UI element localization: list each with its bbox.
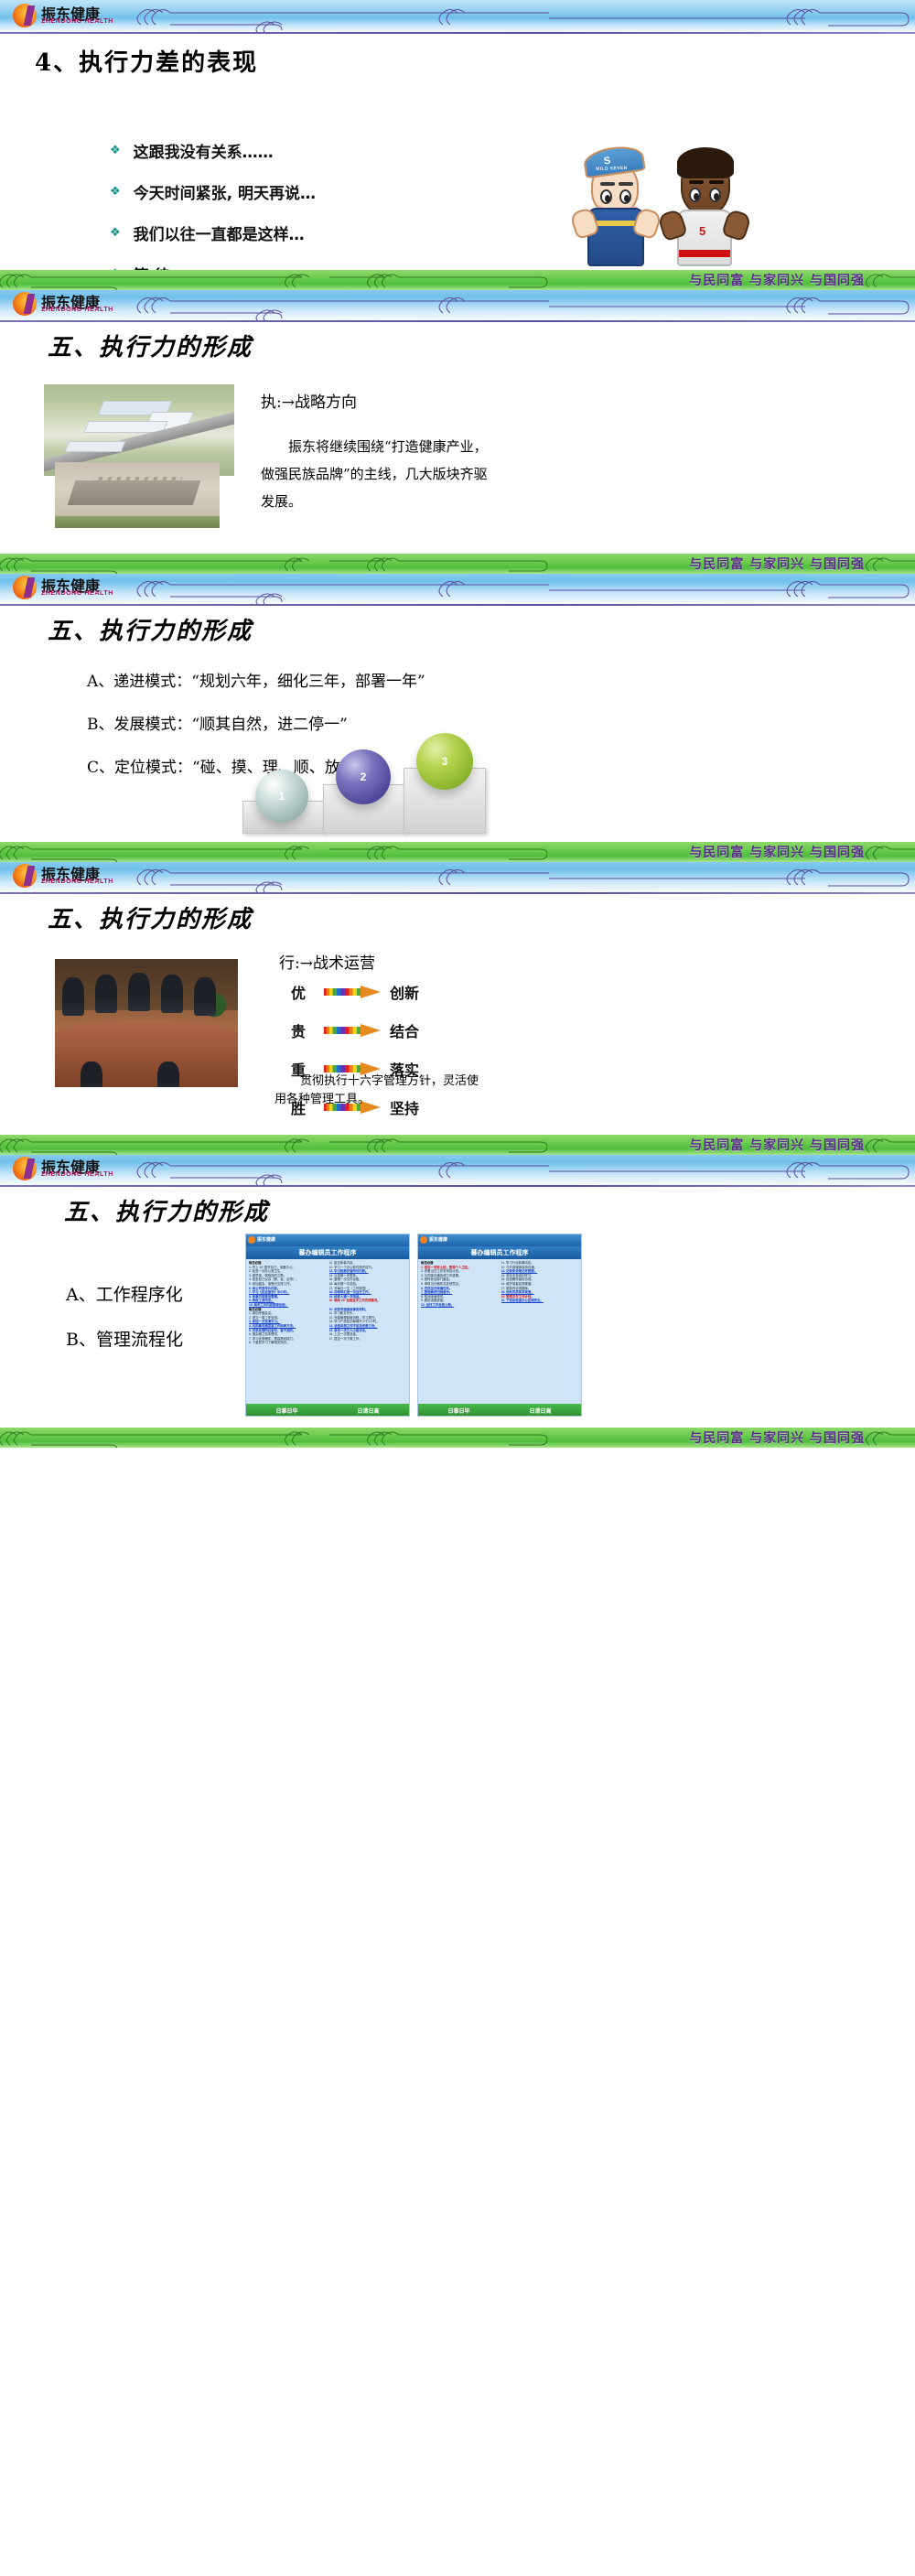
baseball-cap: S MILD SEVEN [582, 144, 646, 179]
brand-slogan: 与民同富 与家同兴 与国同强 [689, 1428, 865, 1447]
keyword-pairs: 优 创新 贵 结合 重 落实 胜 坚持 [291, 981, 419, 1135]
pair-right-label: 结合 [390, 1019, 419, 1041]
slide-5: 与民同富 与家同兴 与国同强 振东 [0, 1135, 915, 1428]
keyword-pair-row: 优 创新 [291, 981, 419, 1003]
process-list: A、工作程序化 B、管理流程化 [66, 1281, 183, 1371]
brand-logo: 振东健康 ZHENDONG HEALTH [13, 290, 141, 318]
eye [709, 188, 721, 202]
brand-mark-icon [248, 1236, 255, 1244]
pair-left-label: 贵 [291, 1019, 315, 1041]
list-item: ❖我们以往一直都是这样… [110, 221, 316, 244]
poster-title: 蕃办编辑员工作程序 [246, 1246, 409, 1259]
list-item-label: 等 待 [134, 263, 170, 270]
brand-logo: 振东健康 ZHENDONG HEALTH [13, 574, 141, 601]
keyword-pair-row: 贵 结合 [291, 1019, 419, 1041]
strategy-heading: 执:→战略方向 [261, 389, 357, 412]
pair-left-label: 优 [291, 981, 315, 1003]
slide-header-bar: 与民同富 与家同兴 与国同强 振东 [0, 270, 915, 322]
eyebrow [689, 180, 704, 184]
slide-3: 与民同富 与家同兴 与国同强 振东 [0, 554, 915, 842]
meeting-room-photo [55, 959, 238, 1087]
plant-buildings-photo [55, 462, 220, 528]
green-slogan-band: 与民同富 与家同兴 与国同强 [0, 554, 915, 574]
list-item: B、管理流程化 [66, 1326, 183, 1351]
sphere-place-1: 1 [255, 770, 308, 823]
pair-right-label: 创新 [390, 981, 419, 1003]
list-item: B、发展模式：“顺其自然，进二停一” [87, 711, 425, 734]
brand-mark-icon [13, 864, 37, 888]
poster-line: 20. 下班前检查办公区域安全。 [501, 1299, 579, 1303]
brand-slogan: 与民同富 与家同兴 与国同强 [689, 271, 865, 289]
cap-brand-text: MILD SEVEN [596, 166, 628, 172]
sphere-place-3: 3 [416, 733, 473, 790]
green-slogan-band: 与民同富 与家同兴 与国同强 [0, 842, 915, 862]
header-underline [0, 1185, 915, 1187]
strategy-paragraph: 振东将继续围绕“打造健康产业，做强民族品牌”的主线，几大版块齐驱发展。 [261, 433, 499, 515]
brand-slogan: 与民同富 与家同兴 与国同强 [689, 843, 865, 861]
place-number: 2 [361, 771, 367, 783]
eyebrow [619, 182, 633, 186]
poster-line: 10. 当日工作总结上报。 [421, 1303, 499, 1308]
poster-logo-cn: 振东健康 [429, 1236, 447, 1243]
place-number: 1 [279, 790, 285, 803]
poster-body: 每日必做 1. 早上 10′ 整齐自己，准备办公。 2. 检查一次办公室卫生。 … [246, 1259, 409, 1404]
green-slogan-band: 与民同富 与家同兴 与国同强 [0, 1135, 915, 1155]
list-item-label: 今天时间紧张, 明天再说… [134, 180, 316, 203]
cartoon-person-blue: S MILD SEVEN [586, 142, 659, 270]
slide-header-bar: 与民同富 与家同兴 与国同强 振东 [0, 1135, 915, 1187]
poster-footer-left: 日事日毕 [447, 1407, 469, 1415]
brand-mark-icon [13, 292, 37, 316]
brand-logo: 振东健康 ZHENDONG HEALTH [13, 1155, 141, 1182]
poster-column-1: 每日必做 1. 提前一刻钟上班，整理个人卫生。 2. 查看当日工作安排及计划。 … [421, 1261, 499, 1402]
green-slogan-band: 与民同富 与家同兴 与国同强 [0, 270, 915, 290]
header-underline [0, 604, 915, 606]
poster-right: 振东健康 蕃办编辑员工作程序 每日必做 1. 提前一刻钟上班，整理个人卫生。 2… [417, 1234, 582, 1417]
cartoon-person-dark: 5 [673, 142, 747, 270]
poster-body: 每日必做 1. 提前一刻钟上班，整理个人卫生。 2. 查看当日工作安排及计划。 … [418, 1259, 581, 1404]
slide-4: 与民同富 与家同兴 与国同强 振东 [0, 842, 915, 1135]
brand-logo-en: ZHENDONG HEALTH [41, 878, 113, 885]
brand-mark-icon [420, 1236, 427, 1244]
page-title: 4、执行力差的表现 [35, 44, 258, 78]
list-item-label: 我们以往一直都是这样… [134, 221, 305, 244]
header-underline [0, 320, 915, 322]
brand-mark-icon [13, 576, 37, 599]
eye [619, 189, 631, 204]
slide-1: 振东健康 ZHENDONG HEALTH 4、执行力差的表现 ❖这跟我没有关系…… [0, 0, 915, 270]
bullet-list: ❖这跟我没有关系…… ❖今天时间紧张, 明天再说… ❖我们以往一直都是这样… ❖… [110, 139, 316, 270]
diamond-bullet-icon: ❖ [110, 227, 121, 239]
eyebrow [709, 180, 724, 184]
brand-mark-icon [13, 4, 37, 27]
torso: 5 [677, 210, 732, 266]
poster-left: 振东健康 蕃办编辑员工作程序 每日必做 1. 早上 10′ 整齐自己，准备办公。… [245, 1234, 410, 1417]
brand-logo-en: ZHENDONG HEALTH [41, 18, 113, 25]
poster-title: 蕃办编辑员工作程序 [418, 1246, 581, 1259]
poster-footer-right: 日清日高 [529, 1407, 551, 1415]
brand-logo-en: ZHENDONG HEALTH [41, 307, 113, 313]
jersey-number: 5 [699, 224, 705, 238]
brand-mark-icon [13, 1157, 37, 1180]
diamond-bullet-icon: ❖ [110, 186, 121, 198]
page-title: 五、执行力的形成 [48, 612, 253, 646]
poster-column-2: 11. 学习行业新闻动态。 12. 与外部媒体保持沟通。 13. 记录采访笔记并… [501, 1261, 579, 1402]
place-number: 3 [442, 755, 448, 768]
brand-logo-en: ZHENDONG HEALTH [41, 1171, 113, 1178]
poster-footer-right: 日清日高 [357, 1407, 379, 1415]
cartoon-illustration: S MILD SEVEN 5 [586, 142, 759, 270]
brand-logo: 振东健康 ZHENDONG HEALTH [13, 862, 141, 889]
poster-logo-cn: 振东健康 [257, 1236, 275, 1243]
list-item-label: 这跟我没有关系…… [134, 139, 274, 162]
list-item: A、递进模式：“规划六年，细化三年，部署一年” [87, 668, 425, 691]
presentation-deck: 振东健康 ZHENDONG HEALTH 4、执行力差的表现 ❖这跟我没有关系…… [0, 0, 915, 1448]
rainbow-arrow-icon [324, 986, 381, 998]
poster-column-1: 每日必做 1. 早上 10′ 整齐自己，准备办公。 2. 检查一次办公室卫生。 … [249, 1261, 327, 1402]
slide-header-bar: 与民同富 与家同兴 与国同强 振东 [0, 842, 915, 894]
eyebrow [600, 182, 615, 186]
brand-slogan: 与民同富 与家同兴 与国同强 [689, 555, 865, 573]
list-item: ❖今天时间紧张, 明天再说… [110, 180, 316, 203]
green-slogan-band: 与民同富 与家同兴 与国同强 [0, 1428, 915, 1448]
podium-spheres-graphic: 1 2 3 [242, 744, 517, 835]
poster-column-2: 11. 促交故事内容。 12. 学习一个办公软件操作技巧。 13. 学习院报记者… [329, 1261, 407, 1402]
brand-logo-en: ZHENDONG HEALTH [41, 590, 113, 597]
page-title: 五、执行力的形成 [48, 329, 253, 362]
next-slide-header-peek: 与民同富 与家同兴 与国同强 [0, 1428, 915, 1448]
poster-footer: 日事日毕 日清日高 [246, 1404, 409, 1417]
poster-footer-left: 日事日毕 [275, 1407, 297, 1415]
slide-header-bar: 与民同富 与家同兴 与国同强 振东 [0, 554, 915, 606]
tactics-paragraph: 贯彻执行十六字管理方针，灵活使用各种管理工具。 [274, 1072, 485, 1109]
tactics-heading: 行:→战术运营 [279, 950, 375, 973]
eye [600, 189, 612, 204]
poster-header: 振东健康 [246, 1234, 409, 1246]
hair [677, 147, 734, 178]
slide-2: 与民同富 与家同兴 与国同强 振东 [0, 270, 915, 554]
header-underline [0, 892, 915, 894]
poster-line: 17. 提交一次下周工作。 [329, 1337, 407, 1342]
list-item: ❖等 待 [110, 263, 316, 270]
header-underline [0, 32, 915, 34]
poster-header: 振东健康 [418, 1234, 581, 1246]
poster-footer: 日事日毕 日清日高 [418, 1404, 581, 1417]
list-item: ❖这跟我没有关系…… [110, 139, 316, 162]
rainbow-arrow-icon [324, 1024, 381, 1037]
slide-header-bar: 振东健康 ZHENDONG HEALTH [0, 0, 915, 34]
page-title: 五、执行力的形成 [48, 900, 253, 934]
brand-logo: 振东健康 ZHENDONG HEALTH [13, 2, 141, 29]
page-title: 五、执行力的形成 [64, 1193, 269, 1227]
diamond-bullet-icon: ❖ [110, 145, 121, 156]
eye [689, 188, 701, 202]
brand-slogan: 与民同富 与家同兴 与国同强 [689, 1136, 865, 1154]
sphere-place-2: 2 [336, 749, 391, 804]
list-item: A、工作程序化 [66, 1281, 183, 1306]
poster-line: 8. 下基层学习了解相关知识。 [249, 1341, 327, 1345]
